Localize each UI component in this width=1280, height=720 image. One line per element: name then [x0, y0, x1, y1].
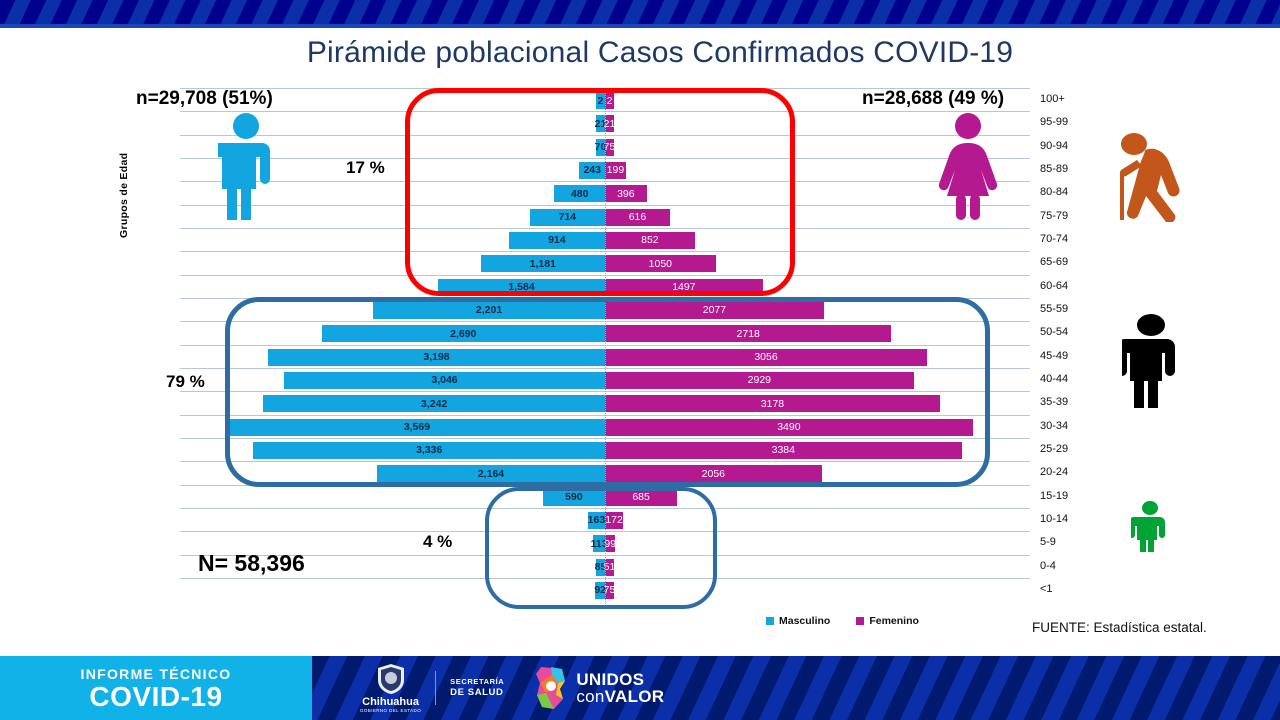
age-group-label: 100+ [1040, 88, 1110, 111]
bar-male: 3,046 [284, 372, 605, 389]
legend-swatch-male-icon [766, 617, 774, 625]
footer-banner: INFORME TÉCNICO COVID-19 Chihuahua GOBIE… [0, 656, 1280, 720]
age-group-label: 70-74 [1040, 228, 1110, 251]
bar-male: 243 [579, 162, 605, 179]
bar-male: 3,336 [253, 442, 605, 459]
bar-male: 480 [554, 185, 605, 202]
con-label: con [576, 687, 604, 706]
age-group-label: 35-39 [1040, 391, 1110, 414]
bar-female: 685 [605, 489, 677, 506]
bar-female: 3178 [605, 395, 940, 412]
footer-covid-text: COVID-19 [89, 683, 222, 711]
age-group-label: 90-94 [1040, 135, 1110, 158]
con-valor-label: conVALOR [576, 688, 664, 705]
chihuahua-shield-icon [376, 663, 406, 695]
bar-female: 21 [605, 115, 614, 132]
bar-male: 914 [509, 232, 605, 249]
bar-female: 3490 [605, 419, 973, 436]
bar-male: 2,690 [322, 325, 605, 342]
bar-male: 1,181 [481, 255, 605, 272]
bar-male: 2,201 [373, 302, 605, 319]
bar-female: 3056 [605, 349, 927, 366]
source-note: FUENTE: Estadística estatal. [1032, 620, 1207, 635]
footer-logos-block: Chihuahua GOBIERNO DEL ESTADO SECRETARÍA… [312, 656, 1280, 720]
elderly-person-with-cane-icon [1112, 130, 1192, 227]
bar-female: 172 [605, 512, 623, 529]
grand-total-label: N= 58,396 [198, 550, 305, 577]
unidos-con-valor-text: UNIDOS conVALOR [576, 671, 664, 706]
legend-label-female: Femenino [869, 615, 919, 627]
bar-female: 3384 [605, 442, 962, 459]
age-group-label: 20-24 [1040, 461, 1110, 484]
chihuahua-label: Chihuahua [362, 696, 419, 708]
age-group-label: <1 [1040, 578, 1110, 601]
bar-female: 1050 [605, 255, 716, 272]
female-figure-icon [938, 112, 998, 225]
chart-legend: Masculino Femenino [766, 615, 919, 627]
bar-female: 2929 [605, 372, 914, 389]
bar-male: 163 [588, 512, 605, 529]
footer-brand-block: INFORME TÉCNICO COVID-19 [0, 656, 312, 720]
bar-female: 75 [605, 582, 614, 599]
population-pyramid-plot: 22212170752431994803967146169148521,1811… [180, 88, 1030, 608]
bar-male: 1,584 [438, 279, 605, 296]
age-group-label: 25-29 [1040, 438, 1110, 461]
unidos-con-valor-logo: UNIDOS conVALOR [532, 665, 664, 711]
age-group-label: 40-44 [1040, 368, 1110, 391]
bar-male: 590 [543, 489, 605, 506]
bar-female: 1497 [605, 279, 763, 296]
secretaria-de-salud-logo: SECRETARÍA DE SALUD [450, 677, 504, 698]
age-group-label: 55-59 [1040, 298, 1110, 321]
legend-item-male: Masculino [766, 615, 830, 627]
adult-person-icon [1122, 312, 1180, 413]
age-group-label: 80-84 [1040, 181, 1110, 204]
age-group-label: 75-79 [1040, 205, 1110, 228]
secretaria-label: SECRETARÍA [450, 677, 504, 686]
bar-female: 99 [605, 535, 615, 552]
bar-female: 75 [605, 139, 614, 156]
chihuahua-sublabel: GOBIERNO DEL ESTADO [360, 708, 421, 713]
male-figure-icon [218, 112, 274, 225]
bar-female: 616 [605, 209, 670, 226]
bar-female: 852 [605, 232, 695, 249]
legend-label-male: Masculino [779, 615, 830, 627]
bar-male: 2,164 [377, 465, 605, 482]
age-group-label: 60-64 [1040, 275, 1110, 298]
bar-female: 2 [605, 92, 614, 109]
bar-female: 199 [605, 162, 626, 179]
bar-female: 2718 [605, 325, 891, 342]
age-group-label: 15-19 [1040, 485, 1110, 508]
bar-male: 2 [596, 92, 605, 109]
age-group-label: 30-34 [1040, 415, 1110, 438]
age-group-axis: 100+95-9990-9485-8980-8475-7970-7465-696… [1040, 88, 1110, 608]
age-group-label: 0-4 [1040, 555, 1110, 578]
age-group-label: 50-54 [1040, 321, 1110, 344]
age-group-label: 10-14 [1040, 508, 1110, 531]
age-group-label: 65-69 [1040, 251, 1110, 274]
valor-label: VALOR [605, 687, 665, 706]
bar-male: 714 [530, 209, 605, 226]
unidos-label: UNIDOS [576, 671, 664, 688]
bar-male: 3,198 [268, 349, 605, 366]
bar-female: 51 [605, 559, 614, 576]
center-axis-line [605, 88, 606, 608]
bar-female: 2077 [605, 302, 824, 319]
age-group-label: 85-89 [1040, 158, 1110, 181]
footer-informe-text: INFORME TÉCNICO [81, 666, 232, 682]
y-axis-title: Grupos de Edad [118, 153, 130, 238]
bar-male: 3,242 [263, 395, 605, 412]
percent-adult: 79 % [166, 372, 205, 392]
bar-male: 3,569 [229, 419, 605, 436]
legend-swatch-female-icon [856, 617, 864, 625]
child-person-icon [1131, 500, 1169, 557]
footer-divider [435, 671, 436, 705]
de-salud-label: DE SALUD [450, 687, 504, 699]
percent-child: 4 % [423, 532, 452, 552]
age-group-label: 5-9 [1040, 531, 1110, 554]
top-stripe-edge [0, 24, 1280, 28]
bar-female: 2056 [605, 465, 822, 482]
bar-female: 396 [605, 185, 647, 202]
chihuahua-map-colorful-icon [532, 665, 570, 711]
legend-item-female: Femenino [856, 615, 919, 627]
page-title: Pirámide poblacional Casos Confirmados C… [0, 36, 1280, 70]
age-group-label: 95-99 [1040, 111, 1110, 134]
chihuahua-government-logo: Chihuahua GOBIERNO DEL ESTADO [360, 663, 421, 713]
percent-elderly: 17 % [346, 158, 385, 178]
bar-male: 113 [593, 535, 605, 552]
age-group-label: 45-49 [1040, 345, 1110, 368]
top-decorative-stripe [0, 0, 1280, 24]
